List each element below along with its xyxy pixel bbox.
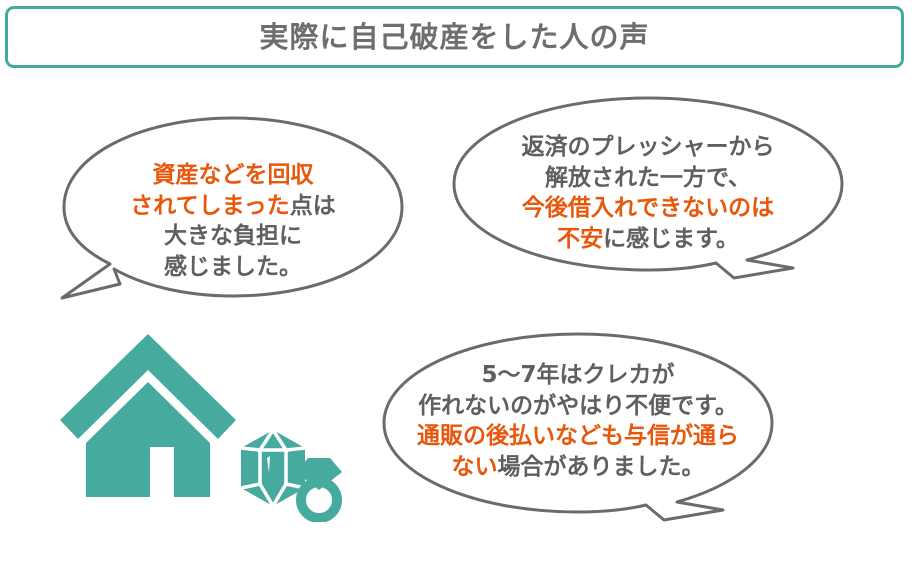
speech-bubble-1: 資産などを回収されてしまった点は大きな負担に感じました。: [58, 112, 408, 307]
speech-bubble-1-text: 資産などを回収されてしまった点は大きな負担に感じました。: [58, 160, 408, 282]
plain-text: 返済のプレッシャーから: [522, 134, 775, 160]
speech-bubble-3: 5〜7年はクレカが作れないのがやはり不便です。通販の後払いなども与信が通らない場…: [378, 328, 778, 528]
plain-text: に感じます。: [603, 226, 739, 252]
bubble-text-line: ない場合がありました。: [378, 452, 778, 483]
plain-text: 5〜7年はクレカが: [481, 362, 674, 388]
bubble-text-line: 資産などを回収: [58, 160, 408, 191]
bubble-text-line: されてしまった点は: [58, 191, 408, 222]
bubble-text-line: 通販の後払いなども与信が通ら: [378, 421, 778, 452]
bubble-text-line: 感じました。: [58, 252, 408, 283]
bubble-text-line: 5〜7年はクレカが: [378, 360, 778, 391]
bubble-text-line: 大きな負担に: [58, 221, 408, 252]
plain-text: 大きな負担に: [164, 223, 302, 249]
bubble-text-line: 作れないのがやはり不便です。: [378, 391, 778, 422]
speech-bubble-2: 返済のプレッシャーから解放された一方で、今後借入れできないのは不安に感じます。: [448, 92, 848, 287]
speech-bubble-3-text: 5〜7年はクレカが作れないのがやはり不便です。通販の後払いなども与信が通らない場…: [378, 360, 778, 482]
bubble-text-line: 解放された一方で、: [448, 163, 848, 194]
highlighted-text: 資産などを回収: [153, 162, 314, 188]
bubble-text-line: 返済のプレッシャーから: [448, 132, 848, 163]
highlighted-text: されてしまった: [130, 193, 289, 219]
ring-icon: [288, 450, 350, 522]
page-title: 実際に自己破産をした人の声: [259, 23, 649, 52]
plain-text: 解放された一方で、: [545, 165, 751, 191]
plain-text: 点は: [290, 193, 336, 219]
house-icon: [58, 330, 238, 510]
plain-text: 場合がありました。: [498, 454, 705, 480]
plain-text: 作れないのがやはり不便です。: [418, 393, 738, 419]
plain-text: 感じました。: [164, 254, 302, 280]
highlighted-text: 通販の後払いなども与信が通ら: [417, 423, 739, 449]
bubble-text-line: 今後借入れできないのは: [448, 193, 848, 224]
page-header-banner: 実際に自己破産をした人の声: [5, 6, 904, 68]
highlighted-text: 今後借入れできないのは: [522, 195, 774, 221]
bubble-text-line: 不安に感じます。: [448, 224, 848, 255]
speech-bubble-2-text: 返済のプレッシャーから解放された一方で、今後借入れできないのは不安に感じます。: [448, 132, 848, 254]
highlighted-text: ない: [452, 454, 498, 480]
highlighted-text: 不安: [557, 226, 603, 252]
